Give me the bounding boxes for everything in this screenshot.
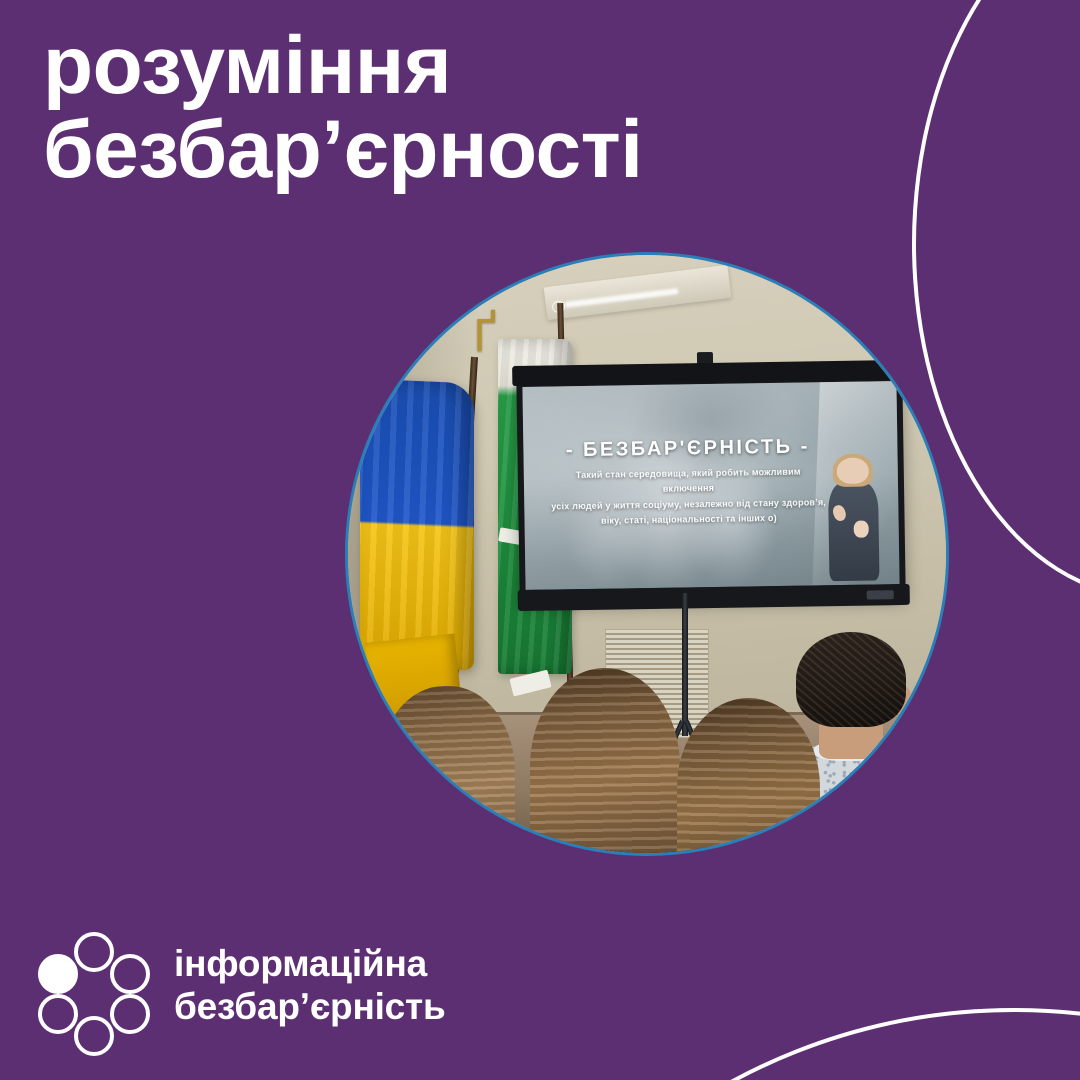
social-card: розуміння безбар’єрності Ґ bbox=[0, 0, 1080, 1080]
page-title: розуміння безбар’єрності bbox=[43, 24, 863, 191]
audience-person-left bbox=[378, 686, 516, 853]
logo-dot-5 bbox=[74, 1016, 114, 1056]
logo-dot-1 bbox=[38, 954, 78, 994]
logo-dot-6 bbox=[38, 994, 78, 1034]
sign-language-interpreter bbox=[825, 454, 883, 580]
photo-scene: Ґ bbox=[348, 255, 946, 853]
slide-heading: - БЕЗБАР'ЄРНІСТЬ - bbox=[550, 435, 827, 462]
screen-canvas: - БЕЗБАР'ЄРНІСТЬ - Такий стан середовища… bbox=[523, 381, 900, 589]
interpreter-head bbox=[837, 457, 869, 484]
projector-screen: - БЕЗБАР'ЄРНІСТЬ - Такий стан середовища… bbox=[517, 369, 906, 602]
person-hair bbox=[677, 698, 821, 853]
logo-text-line-1: інформаційна bbox=[174, 943, 446, 986]
slide-text-block: - БЕЗБАР'ЄРНІСТЬ - Такий стан середовища… bbox=[550, 435, 828, 530]
slide-body-line-1: Такий стан середовища, який робить можли… bbox=[550, 464, 827, 499]
audience-person-center bbox=[530, 668, 680, 853]
brand-logo-text: інформаційна безбар’єрність bbox=[174, 943, 446, 1029]
audience-person-right-woman bbox=[677, 698, 821, 853]
trident-finial-icon: Ґ bbox=[474, 312, 498, 360]
logo-dot-4 bbox=[110, 994, 150, 1034]
interpreter-hand-right bbox=[854, 520, 869, 538]
person-hair bbox=[378, 686, 516, 853]
title-line-2: безбар’єрності bbox=[43, 108, 863, 192]
logo-text-line-2: безбар’єрність bbox=[174, 986, 446, 1029]
hexagon-dots-logo-icon bbox=[38, 930, 150, 1042]
brand-logo: інформаційна безбар’єрність bbox=[38, 930, 446, 1042]
title-line-1: розуміння bbox=[43, 24, 863, 108]
logo-dot-3 bbox=[110, 954, 150, 994]
person-hair bbox=[530, 668, 680, 853]
circular-photo: Ґ bbox=[345, 252, 949, 856]
ukraine-flag bbox=[360, 378, 474, 670]
arc-bottom-right-decoration bbox=[420, 1008, 1080, 1080]
logo-dot-2 bbox=[74, 932, 114, 972]
